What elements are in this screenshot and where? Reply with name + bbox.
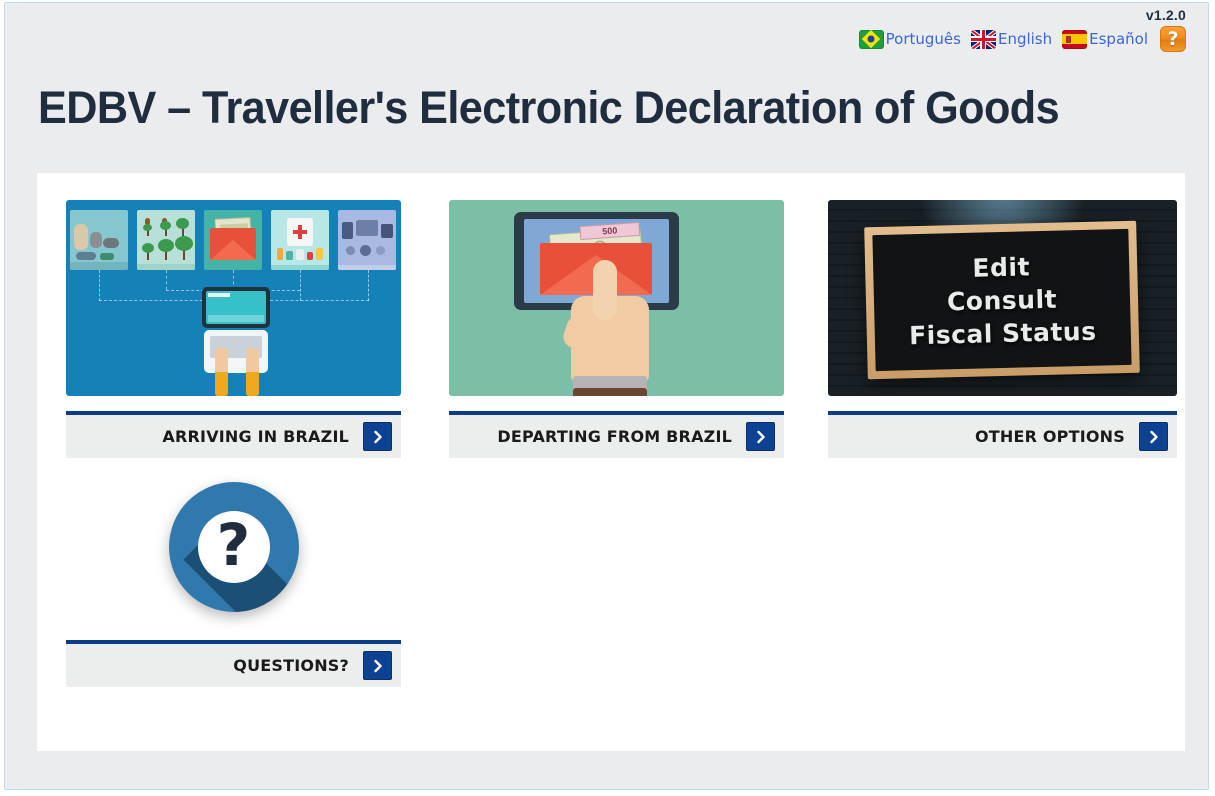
- chevron-right-icon[interactable]: [363, 651, 392, 680]
- button-label-arriving: ARRIVING IN BRAZIL: [162, 427, 349, 446]
- chalkboard-line-fiscal-status: Fiscal Status: [909, 316, 1097, 350]
- chevron-right-icon[interactable]: [363, 422, 392, 451]
- version-label: v1.2.0: [586, 7, 1186, 23]
- banknote-500-label: 500: [579, 222, 640, 240]
- travellers-goods-categories-laptop-illustration: [66, 200, 401, 396]
- language-option-portugues[interactable]: Português: [859, 30, 961, 49]
- language-option-english[interactable]: English: [971, 30, 1052, 49]
- flag-brazil-icon: [859, 30, 884, 49]
- help-question-icon[interactable]: ?: [1160, 26, 1186, 52]
- chalkboard-line-edit: Edit: [972, 252, 1030, 282]
- chalkboard-line-consult: Consult: [947, 284, 1058, 316]
- thumb-electronics: [338, 210, 396, 270]
- language-bar: Português English Español ?: [586, 26, 1186, 52]
- flag-spain-icon: [1062, 30, 1087, 49]
- thumb-medicines: [271, 210, 329, 270]
- button-questions[interactable]: QUESTIONS?: [66, 640, 401, 687]
- flag-uk-icon: [971, 30, 996, 49]
- tablet-device: [202, 287, 270, 328]
- top-bar: v1.2.0 Português English Español: [586, 7, 1186, 52]
- chalkboard-surface: Edit Consult Fiscal Status: [872, 229, 1131, 371]
- button-label-questions: QUESTIONS?: [233, 656, 349, 675]
- card-departing-from-brazil[interactable]: 500 $ DEPA: [449, 200, 784, 458]
- language-label-english: English: [998, 30, 1052, 48]
- card-arriving-in-brazil[interactable]: ARRIVING IN BRAZIL: [66, 200, 401, 458]
- card-other-options[interactable]: Edit Consult Fiscal Status OTHER OPTIONS: [828, 200, 1177, 458]
- thumb-fauna: [70, 210, 128, 270]
- tablet-envelope-money-hand-illustration: 500 $: [449, 200, 784, 396]
- pointing-hand-icon: [567, 260, 649, 396]
- button-label-departing: DEPARTING FROM BRAZIL: [497, 427, 732, 446]
- question-circle-icon: ?: [169, 482, 299, 612]
- card-questions[interactable]: ? QUESTIONS?: [66, 461, 401, 687]
- language-option-espanol[interactable]: Español: [1062, 30, 1148, 49]
- chevron-right-icon[interactable]: [1139, 422, 1168, 451]
- button-arriving-in-brazil[interactable]: ARRIVING IN BRAZIL: [66, 411, 401, 458]
- sleeve-left: [215, 372, 228, 396]
- thumb-money-envelope: [204, 210, 262, 270]
- chevron-right-icon[interactable]: [746, 422, 775, 451]
- language-label-portugues: Português: [886, 30, 961, 48]
- button-other-options[interactable]: OTHER OPTIONS: [828, 411, 1177, 458]
- page-frame: v1.2.0 Português English Español: [4, 2, 1209, 790]
- sleeve-right: [246, 372, 259, 396]
- chalkboard-illustration: Edit Consult Fiscal Status: [828, 200, 1177, 396]
- question-mark-circle-illustration: ?: [66, 461, 401, 632]
- page-title: EDBV – Traveller's Electronic Declaratio…: [38, 82, 1059, 134]
- question-mark-glyph: ?: [217, 516, 251, 574]
- button-label-other-options: OTHER OPTIONS: [975, 427, 1125, 446]
- language-label-espanol: Español: [1089, 30, 1148, 48]
- chalkboard-frame: Edit Consult Fiscal Status: [864, 221, 1140, 380]
- button-departing-from-brazil[interactable]: DEPARTING FROM BRAZIL: [449, 411, 784, 458]
- content-panel: ARRIVING IN BRAZIL 500 $: [37, 173, 1185, 751]
- thumb-plants: [137, 210, 195, 270]
